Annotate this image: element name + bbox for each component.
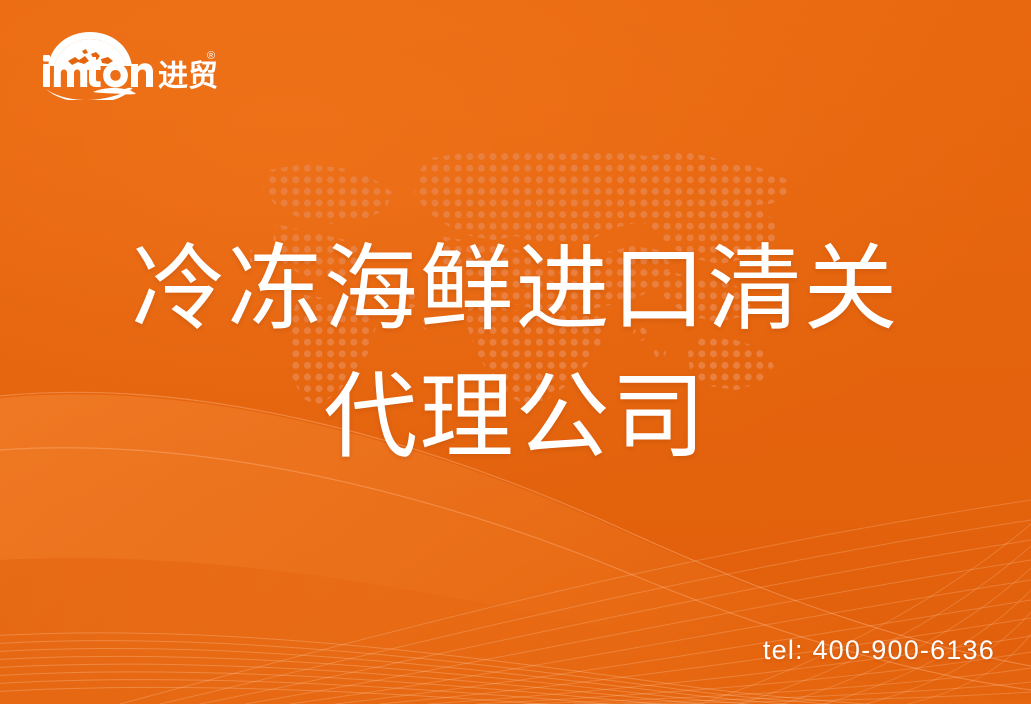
page-title: 冷冻海鲜进口清关 代理公司 xyxy=(0,225,1031,481)
contact-phone[interactable]: tel: 400-900-6136 xyxy=(763,635,995,666)
headline-line-1: 冷冻海鲜进口清关 xyxy=(0,225,1031,353)
registered-trademark-icon: ® xyxy=(207,50,215,62)
wave-band-lower xyxy=(0,558,1031,704)
logo-wordmark-chinese: 进贸通 xyxy=(158,60,218,93)
fish-swoosh-icon xyxy=(46,88,136,100)
promo-banner: 进贸通 ® 冷冻海鲜进口清关 代理公司 tel: 400-900-6136 xyxy=(0,0,1031,704)
headline-line-2: 代理公司 xyxy=(0,353,1031,481)
brand-logo[interactable]: 进贸通 ® xyxy=(38,28,218,100)
